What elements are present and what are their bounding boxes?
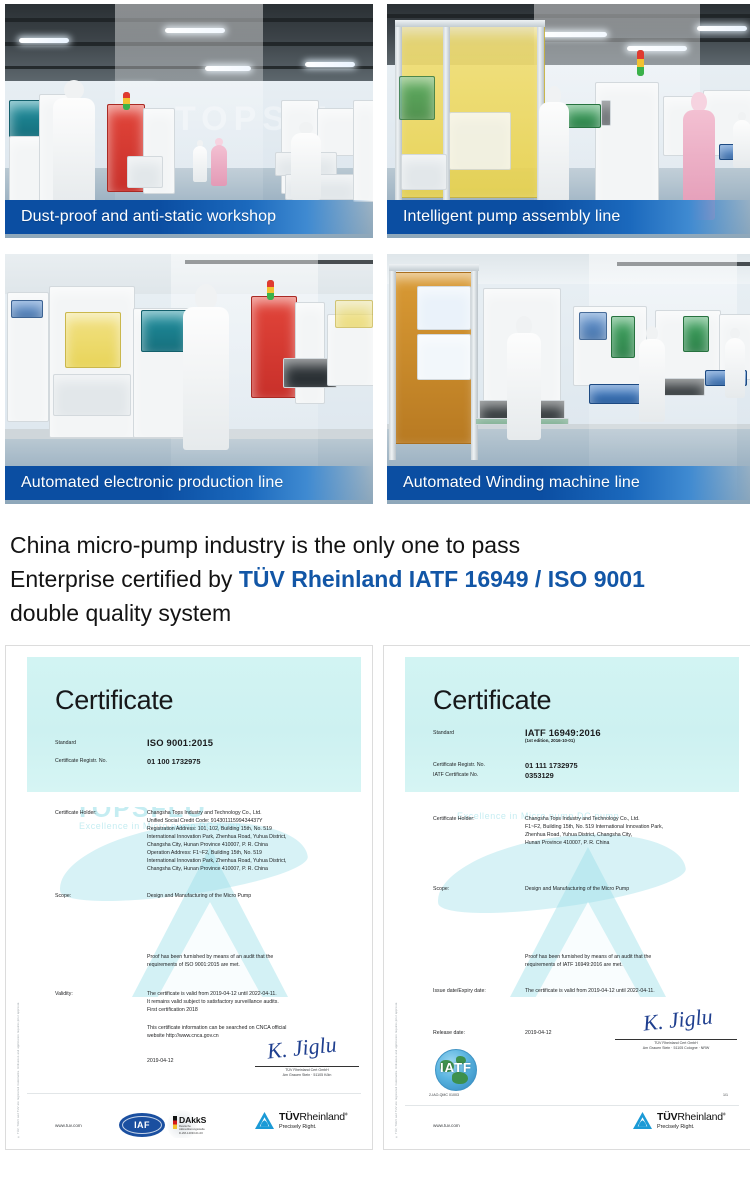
cert-holder-line: Registration Address: 101, 102, Building… xyxy=(147,825,286,833)
cert-proof-block: Proof has been furnished by means of an … xyxy=(147,953,273,969)
cert-proof-line: requirements of ISO 9001:2015 are met. xyxy=(147,961,273,969)
certificate-gallery: ® TÜV, TUEV and TUV are registered trade… xyxy=(5,645,750,1150)
worker-figure xyxy=(211,138,227,186)
cert-registr-label: Certificate Registr. No. xyxy=(55,757,147,767)
gallery-item-winding-line[interactable]: Automated Winding machine line xyxy=(387,254,750,504)
cert-side-disclaimer: ® TÜV, TUEV and TUV are registered trade… xyxy=(392,657,401,1138)
cert-registr-value: 01 111 1732975 xyxy=(525,761,578,771)
worker-figure xyxy=(539,86,569,202)
tuv-name-bold: TÜV xyxy=(279,1111,299,1123)
cert-scope-label: Scope: xyxy=(433,885,525,893)
cert-header-band xyxy=(27,657,361,792)
cert-scope-value: Design and Manufacturing of the Micro Pu… xyxy=(525,885,629,893)
cert-title: Certificate xyxy=(433,685,551,716)
footer-url[interactable]: www.tuv.com xyxy=(55,1123,82,1128)
worker-figure xyxy=(507,316,541,440)
cert-iatf-no-value: 0353129 xyxy=(525,771,554,781)
iaf-logo-icon: IAF xyxy=(119,1113,165,1137)
tuv-name-rest: Rheinland xyxy=(677,1111,723,1123)
gallery-item-electronic-line[interactable]: Automated electronic production line xyxy=(5,254,373,504)
cert-standard-value: ISO 9001:2015 xyxy=(147,739,213,747)
cert-validity-block: The certificate is valid from 2019-04-12… xyxy=(147,990,279,1014)
gallery-caption-text: Intelligent pump assembly line xyxy=(387,208,620,226)
certificate-iso9001[interactable]: ® TÜV, TUEV and TUV are registered trade… xyxy=(5,645,373,1150)
footer-url[interactable]: www.tuv.com xyxy=(433,1123,460,1128)
cert-proof-block: Proof has been furnished by means of an … xyxy=(525,953,651,969)
cert-holder-line: F1~F2, Building 15th, No. 519 Internatio… xyxy=(525,823,663,831)
gallery-caption-text: Dust-proof and anti-static workshop xyxy=(5,208,276,226)
cert-date-value: 2019-04-12 xyxy=(525,1029,552,1037)
gallery-item-assembly-line[interactable]: Intelligent pump assembly line xyxy=(387,4,750,238)
cert-holder-name: Changsha Tops Industry and Technology Co… xyxy=(525,815,663,823)
tuv-name-rest: Rheinland xyxy=(299,1111,345,1123)
cert-registr-value: 01 100 1732975 xyxy=(147,757,200,767)
cert-validity-line: The certificate is valid from 2019-04-12… xyxy=(525,987,655,995)
cert-validity-label: Issue date/Expiry date: xyxy=(433,987,525,995)
page-number: 1/1 xyxy=(723,1093,728,1097)
gallery-caption-text: Automated electronic production line xyxy=(5,474,283,492)
cert-holder-line: Changsha City, Hunan Province 410007, P.… xyxy=(147,841,286,849)
worker-figure xyxy=(733,112,750,168)
gallery-item-workshop[interactable]: TOPSFLO xyxy=(5,4,373,238)
headline-highlight: TÜV Rheinland IATF 16949 / ISO 9001 xyxy=(239,566,645,592)
gallery-caption-text: Automated Winding machine line xyxy=(387,474,640,492)
cert-proof-line: requirements of IATF 16949:2016 are met. xyxy=(525,961,651,969)
factory-photo-gallery: TOPSFLO xyxy=(0,0,750,504)
gallery-caption: Automated Winding machine line xyxy=(387,466,750,500)
cert-scope-value: Design and Manufacturing of the Micro Pu… xyxy=(147,892,251,900)
worker-figure xyxy=(193,140,207,182)
signer-line-2: Am Grauen Stein · 51105 Köln xyxy=(255,1073,359,1078)
signer-line-2: Am Grauen Stein · 51105 Cologne · NRW xyxy=(615,1046,737,1051)
cert-holder-line: Hunan Province 410007, P. R. China xyxy=(525,839,663,847)
iatf-globe-icon: IATF xyxy=(435,1049,477,1091)
cert-scope-label: Scope: xyxy=(55,892,147,900)
headline-line-3: double quality system xyxy=(10,596,750,630)
headline-line-1: China micro-pump industry is the only on… xyxy=(10,528,750,562)
cert-holder-line: Zhenhua Road, Yuhua District, Changsha C… xyxy=(525,831,663,839)
cert-standard-block: IATF 16949:2016 (1st edition, 2016-10-01… xyxy=(525,729,601,745)
cert-validity-block: The certificate is valid from 2019-04-12… xyxy=(525,987,655,995)
gallery-caption: Automated electronic production line xyxy=(5,466,373,500)
cert-proof-line: Proof has been furnished by means of an … xyxy=(147,953,273,961)
cert-standard-note: (1st edition, 2016-10-01) xyxy=(525,737,601,745)
cert-holder-label: Certificate Holder: xyxy=(55,809,147,873)
tuv-rheinland-logo: TÜVRheinland® Precisely Right. xyxy=(633,1111,726,1130)
cert-extra-block: This certificate information can be sear… xyxy=(147,1024,286,1040)
worker-figure xyxy=(725,328,745,398)
cert-date-value: 2019-04-12 xyxy=(147,1057,174,1065)
cert-holder-label: Certificate Holder: xyxy=(433,815,525,847)
tuv-name-bold: TÜV xyxy=(657,1111,677,1123)
dakks-sub-3: D-ZM-14033-01-00 xyxy=(179,1132,206,1135)
cert-validity-line: First certification 2018 xyxy=(147,1006,279,1014)
cert-standard-value: IATF 16949:2016 xyxy=(525,729,601,737)
cert-holder-name: Changsha Tops Industry and Technology Co… xyxy=(147,809,286,817)
cert-validity-line: The certificate is valid from 2019-04-12… xyxy=(147,990,279,998)
cert-holder-block: Changsha Tops Industry and Technology Co… xyxy=(525,815,663,847)
tuv-registered-mark: ® xyxy=(723,1112,726,1117)
tuv-registered-mark: ® xyxy=(345,1112,348,1117)
tuv-triangle-icon xyxy=(255,1112,274,1129)
cert-holder-line: International Innovation Park, Zhenhua R… xyxy=(147,833,286,841)
cert-holder-line: International Innovation Park, Zhenhua R… xyxy=(147,857,286,865)
cert-side-disclaimer: ® TÜV, TUEV and TUV are registered trade… xyxy=(14,657,23,1138)
gallery-caption: Dust-proof and anti-static workshop xyxy=(5,200,373,234)
cert-iatf-no-label: IATF Certificate No. xyxy=(433,771,525,781)
signature-mark: K. Jiglu xyxy=(642,1003,714,1036)
worker-figure xyxy=(183,284,229,450)
worker-figure xyxy=(639,326,665,422)
cert-proof-line: Proof has been furnished by means of an … xyxy=(525,953,651,961)
cert-holder-line: Changsha City, Hunan Province 410007, P.… xyxy=(147,865,286,873)
cert-validity-label: Validity: xyxy=(55,990,147,1014)
cert-standard-label: Standard xyxy=(55,739,147,747)
cert-title: Certificate xyxy=(55,685,173,716)
cert-registr-label: Certificate Registr. No. xyxy=(433,761,525,771)
headline-prefix: Enterprise certified by xyxy=(10,566,239,592)
tuv-rheinland-logo: TÜVRheinland® Precisely Right. xyxy=(255,1111,348,1130)
worker-figure xyxy=(291,122,321,200)
cert-holder-line: Unified Social Credit Code: 914301115994… xyxy=(147,817,286,825)
cert-release-label: Release date: xyxy=(433,1029,525,1037)
tuv-triangle-icon xyxy=(633,1112,652,1129)
cert-holder-line: Operation Address: F1~F2, Building 15th,… xyxy=(147,849,286,857)
headline-line-2: Enterprise certified by TÜV Rheinland IA… xyxy=(10,562,750,596)
cert-extra-line: This certificate information can be sear… xyxy=(147,1024,286,1032)
tuv-tagline: Precisely Right. xyxy=(279,1124,348,1130)
cert-holder-block: Changsha Tops Industry and Technology Co… xyxy=(147,809,286,873)
gallery-caption: Intelligent pump assembly line xyxy=(387,200,750,234)
cert-validity-line: It remains valid subject to satisfactory… xyxy=(147,998,279,1006)
certificate-iatf16949[interactable]: ® TÜV, TUEV and TUV are registered trade… xyxy=(383,645,750,1150)
iatf-code: 2-IAO-QMC 01003 xyxy=(429,1093,459,1097)
cert-standard-label: Standard xyxy=(433,729,525,745)
headline-block: China micro-pump industry is the only on… xyxy=(10,528,750,630)
tuv-tagline: Precisely Right. xyxy=(657,1124,726,1130)
worker-figure xyxy=(53,80,95,206)
page-root: TOPSFLO xyxy=(0,0,750,1195)
iatf-badge-label: IATF xyxy=(436,1060,476,1075)
dakks-logo-icon: DAkkS Deutsche Akkreditierungsstelle D-Z… xyxy=(173,1116,206,1135)
